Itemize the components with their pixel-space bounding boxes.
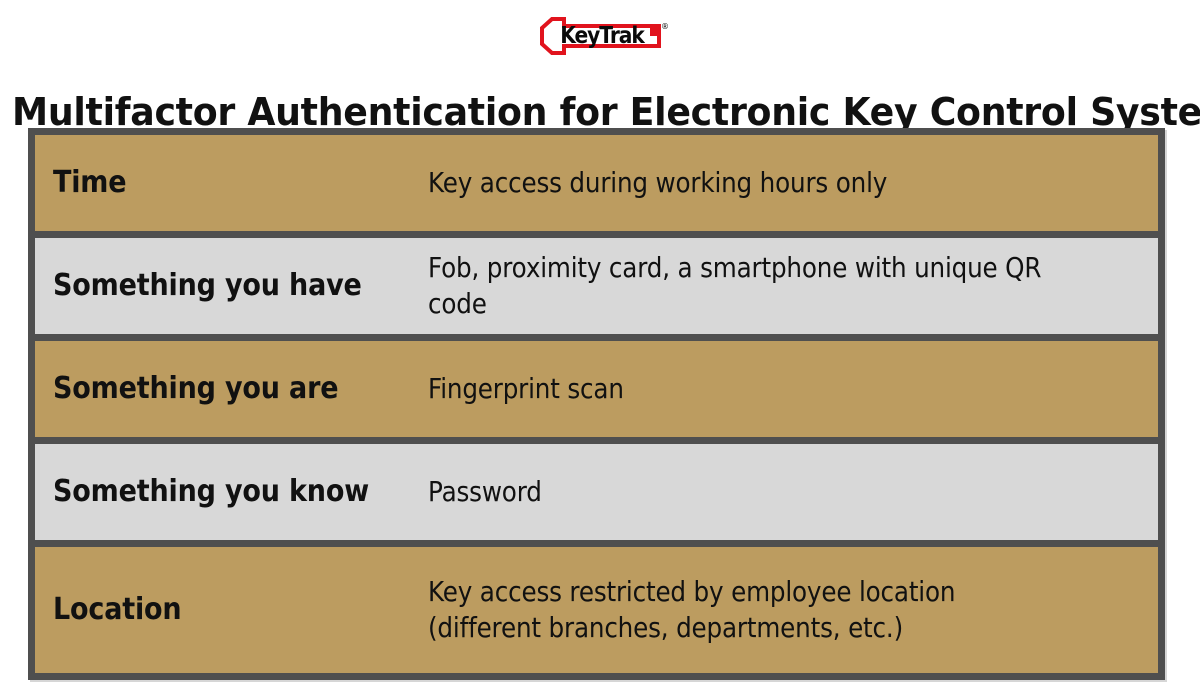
table-row: Location Key access restricted by employ… [35, 547, 1158, 673]
table-row: Something you know Password [35, 444, 1158, 540]
factor-label: Location [53, 593, 391, 627]
factor-description: Password [428, 474, 1062, 510]
table-row: Time Key access during working hours onl… [35, 135, 1158, 231]
factor-label: Something you know [53, 475, 391, 509]
factor-description: Key access during working hours only [428, 165, 1062, 201]
factor-description: Key access restricted by employee locati… [428, 574, 1062, 646]
logo-text-key-k: Key [560, 23, 599, 49]
factor-description: Fob, proximity card, a smartphone with u… [428, 250, 1062, 322]
keytrak-logo-mark: KeyTrak ® [534, 16, 666, 56]
table-row: Something you have Fob, proximity card, … [35, 238, 1158, 334]
factor-label: Something you are [53, 372, 391, 406]
registered-trademark-icon: ® [661, 22, 669, 31]
keytrak-wordmark: KeyTrak [550, 23, 654, 49]
mfa-factors-table: Time Key access during working hours onl… [28, 128, 1165, 680]
factor-description: Fingerprint scan [428, 371, 1062, 407]
brand-logo: KeyTrak ® [0, 14, 1200, 58]
factor-label: Something you have [53, 269, 391, 303]
factor-label: Time [53, 166, 391, 200]
table-row: Something you are Fingerprint scan [35, 341, 1158, 437]
logo-text-trak: Trak [599, 23, 643, 49]
